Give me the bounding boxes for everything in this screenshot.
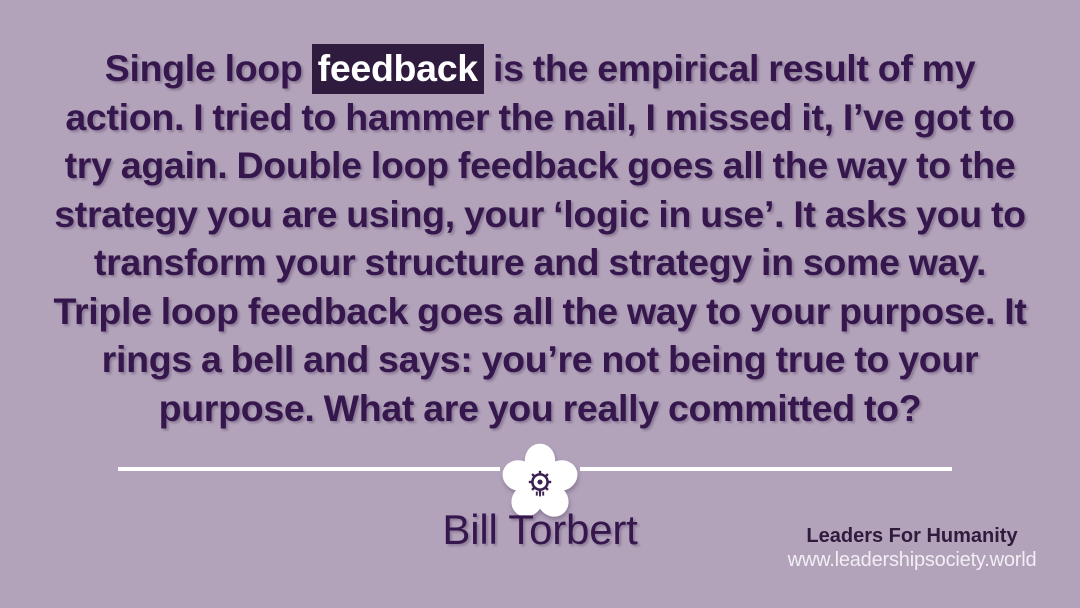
divider-line-right [580,467,952,471]
quote-highlight-feedback: feedback [312,44,484,94]
divider [0,452,1080,512]
gear-center-dot [537,479,542,484]
quote-card: Single loop feedback is the empirical re… [0,0,1080,608]
quote-segment-after: is the empirical result of my action. I … [53,47,1026,429]
quote-segment-before: Single loop [105,47,312,89]
brand-url[interactable]: www.leadershipsociety.world [762,548,1062,573]
divider-line-left [118,467,500,471]
quote-text: Single loop feedback is the empirical re… [48,44,1032,432]
brand-block: Leaders For Humanity www.leadershipsocie… [762,524,1062,573]
brand-name: Leaders For Humanity [762,524,1062,548]
